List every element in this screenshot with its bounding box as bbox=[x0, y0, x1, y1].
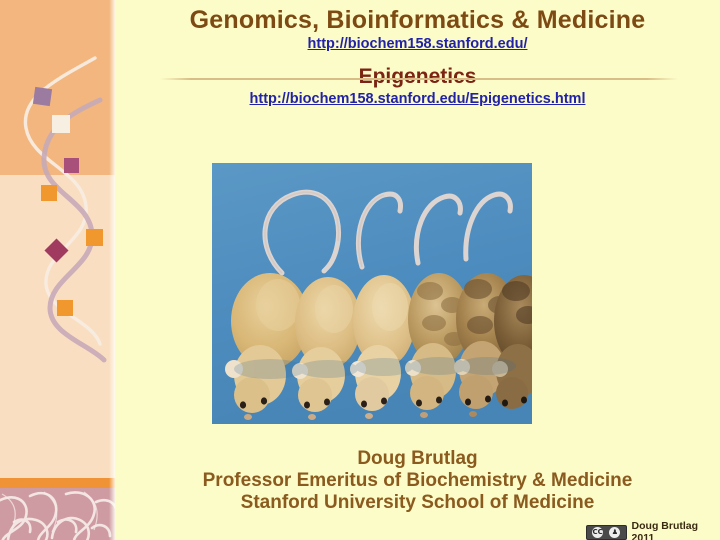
sidebar-orange-rule bbox=[0, 478, 115, 488]
sidebar-squares bbox=[33, 87, 103, 316]
presenter-title: Professor Emeritus of Biochemistry & Med… bbox=[115, 470, 720, 492]
presenter-byline: Doug Brutlag Professor Emeritus of Bioch… bbox=[115, 448, 720, 515]
header-divider bbox=[160, 78, 678, 80]
presentation-slide: Genomics, Bioinformatics & Medicine http… bbox=[0, 0, 720, 540]
section-url-link[interactable]: http://biochem158.stanford.edu/Epigeneti… bbox=[115, 91, 720, 107]
sidebar-ribbon-graphic bbox=[0, 0, 115, 478]
course-title: Genomics, Bioinformatics & Medicine bbox=[115, 0, 720, 33]
creative-commons-license-icon[interactable]: CC ♟ bbox=[586, 525, 627, 540]
copyright-text: Doug Brutlag 2011 bbox=[632, 520, 720, 540]
presenter-name: Doug Brutlag bbox=[115, 448, 720, 470]
decorative-sidebar bbox=[0, 0, 115, 540]
slide-header: Genomics, Bioinformatics & Medicine http… bbox=[115, 0, 720, 107]
presenter-institution: Stanford University School of Medicine bbox=[115, 492, 720, 514]
course-url-link[interactable]: http://biochem158.stanford.edu/ bbox=[115, 36, 720, 52]
attribution-person-icon: ♟ bbox=[609, 527, 620, 538]
cc-icon: CC bbox=[592, 527, 603, 538]
sidebar-paisley-band bbox=[0, 488, 115, 540]
agouti-mice-photo bbox=[212, 163, 532, 424]
copyright-badge: CC ♟ Doug Brutlag 2011 bbox=[586, 520, 720, 540]
